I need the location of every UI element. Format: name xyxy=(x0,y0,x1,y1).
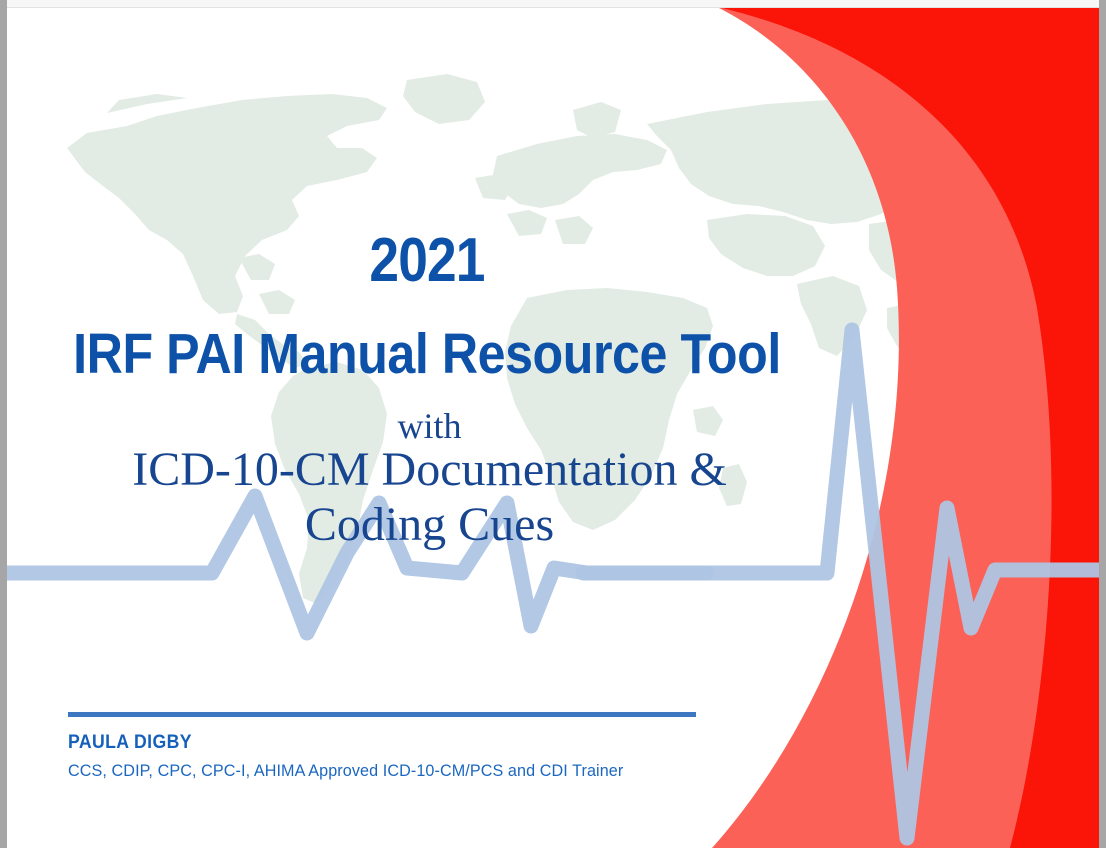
title-slide: 2021 IRF PAI Manual Resource Tool with I… xyxy=(7,8,1099,848)
viewer-top-rule xyxy=(0,0,1106,8)
subtitle-line-1: ICD-10-CM Documentation & xyxy=(7,442,852,497)
slide-subtitle: ICD-10-CM Documentation & Coding Cues xyxy=(7,442,852,552)
author-credentials: CCS, CDIP, CPC, CPC-I, AHIMA Approved IC… xyxy=(68,760,623,781)
document-gutter-right xyxy=(1099,0,1106,848)
author-divider xyxy=(68,712,696,717)
subtitle-line-2: Coding Cues xyxy=(7,497,852,552)
author-name: PAULA DIGBY xyxy=(68,732,192,754)
slide-year: 2021 xyxy=(66,230,788,292)
document-gutter-left xyxy=(0,0,7,848)
page-title: IRF PAI Manual Resource Tool xyxy=(49,323,806,385)
subtitle-connector: with xyxy=(7,406,852,446)
document-page: 2021 IRF PAI Manual Resource Tool with I… xyxy=(0,0,1106,848)
